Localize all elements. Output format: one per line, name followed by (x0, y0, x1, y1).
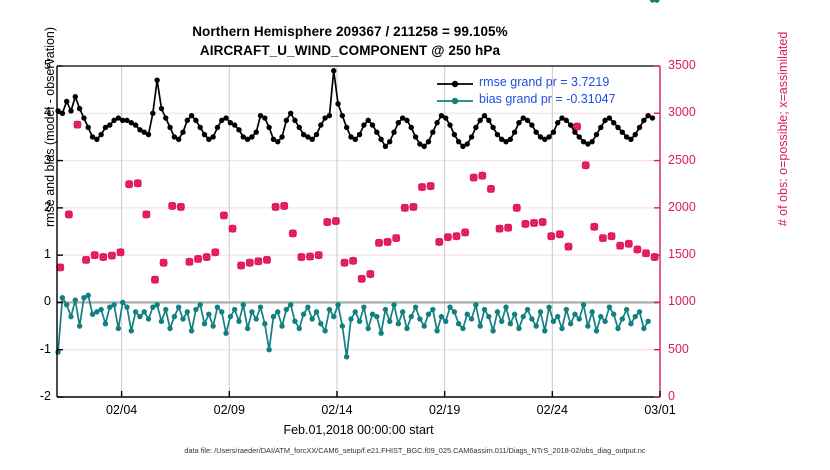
series-point-rmse (340, 113, 345, 118)
series-point-bias (452, 309, 457, 314)
series-point-bias (404, 326, 409, 331)
series-point-bias (387, 319, 392, 324)
series-point-rmse (391, 130, 396, 135)
series-point-bias (129, 328, 134, 333)
series-point-rmse (154, 77, 159, 82)
series-point-bias (490, 328, 495, 333)
series-point-rmse (215, 125, 220, 130)
y-tick-left-4: 4 (11, 105, 51, 119)
chart-title-line-2: AIRCRAFT_U_WIND_COMPONENT @ 250 hPa (0, 41, 700, 60)
y-tick-right-2000: 2000 (668, 200, 714, 214)
series-point-bias (73, 297, 78, 302)
series-point-bias (331, 314, 336, 319)
plot-figure: Northern Hemisphere 209367 / 211258 = 99… (0, 0, 830, 470)
series-point-rmse (279, 134, 284, 139)
series-point-bias (426, 312, 431, 317)
series-point-bias (86, 293, 91, 298)
series-point-bias (598, 314, 603, 319)
series-point-rmse (365, 118, 370, 123)
legend-label-1: bias grand pr = -0.31047 (479, 92, 616, 106)
series-point-bias (68, 314, 73, 319)
series-point-bias (620, 316, 625, 321)
series-point-bias (163, 307, 168, 312)
series-point-bias (516, 326, 521, 331)
series-point-rmse (452, 132, 457, 137)
series-point-rmse (284, 118, 289, 123)
series-point-bias (469, 316, 474, 321)
series-point-rmse (133, 122, 138, 127)
series-point-rmse (490, 125, 495, 130)
series-point-bias (262, 321, 267, 326)
y-tick-right-0: 0 (668, 389, 714, 403)
chart-title: Northern Hemisphere 209367 / 211258 = 99… (0, 22, 700, 60)
series-point-bias (559, 326, 564, 331)
series-point-bias (60, 295, 65, 300)
series-point-bias (529, 316, 534, 321)
series-point-bias (482, 307, 487, 312)
series-point-rmse (404, 118, 409, 123)
series-point-rmse (98, 132, 103, 137)
series-point-rmse (641, 118, 646, 123)
x-tick-02/14: 02/14 (307, 403, 367, 417)
series-point-bias (361, 304, 366, 309)
series-point-bias (645, 319, 650, 324)
series-point-rmse (533, 130, 538, 135)
series-point-bias (335, 302, 340, 307)
series-point-bias (357, 319, 362, 324)
series-point-bias (439, 314, 444, 319)
series-point-rmse (198, 125, 203, 130)
y-tick-left-2: 2 (11, 200, 51, 214)
series-point-rmse (525, 118, 530, 123)
series-point-rmse (637, 125, 642, 130)
series-point-bias (98, 307, 103, 312)
series-point-bias (594, 328, 599, 333)
series-point-bias (607, 304, 612, 309)
series-point-bias (266, 347, 271, 352)
series-point-rmse (344, 125, 349, 130)
series-point-bias (254, 316, 259, 321)
series-point-rmse (456, 139, 461, 144)
series-point-bias (430, 307, 435, 312)
series-point-rmse (193, 118, 198, 123)
series-point-bias (421, 323, 426, 328)
series-point-rmse (180, 130, 185, 135)
series-point-bias (180, 316, 185, 321)
series-point-bias (577, 316, 582, 321)
series-point-rmse (167, 125, 172, 130)
series-point-bias (486, 314, 491, 319)
x-tick-02/19: 02/19 (415, 403, 475, 417)
series-point-rmse (327, 113, 332, 118)
series-point-rmse (607, 115, 612, 120)
series-point-bias (301, 312, 306, 317)
series-point-rmse (620, 130, 625, 135)
series-point-rmse (486, 118, 491, 123)
series-point-bias (103, 321, 108, 326)
series-point-bias (219, 309, 224, 314)
series-point-rmse (314, 132, 319, 137)
series-point-rmse (357, 132, 362, 137)
series-point-rmse (421, 144, 426, 149)
series-point-bias (499, 319, 504, 324)
series-point-rmse (370, 122, 375, 127)
series-point-rmse (469, 134, 474, 139)
series-point-bias (568, 321, 573, 326)
y-tick-right-500: 500 (668, 342, 714, 356)
series-point-bias (271, 314, 276, 319)
series-point-rmse (508, 137, 513, 142)
series-point-rmse (430, 130, 435, 135)
series-point-rmse (564, 118, 569, 123)
obs-marker-group (57, 121, 658, 282)
series-point-rmse (288, 111, 293, 116)
series-point-bias (637, 309, 642, 314)
series-point-bias (551, 319, 556, 324)
series-point-rmse (551, 130, 556, 135)
series-point-rmse (292, 118, 297, 123)
series-point-bias (167, 326, 172, 331)
series-point-bias (521, 314, 526, 319)
series-point-bias (258, 304, 263, 309)
series-point-bias (564, 307, 569, 312)
series-point-rmse (150, 111, 155, 116)
y-tick-left-3: 3 (11, 153, 51, 167)
series-point-bias (309, 316, 314, 321)
series-point-rmse (189, 113, 194, 118)
series-point-rmse (331, 68, 336, 73)
series-point-bias (111, 302, 116, 307)
y-tick-right-3000: 3000 (668, 105, 714, 119)
series-point-bias (348, 316, 353, 321)
series-point-rmse (236, 127, 241, 132)
series-point-bias (176, 304, 181, 309)
series-point-rmse (529, 122, 534, 127)
y-tick-left-1: 1 (11, 247, 51, 261)
series-point-bias (533, 323, 538, 328)
series-point-rmse (568, 122, 573, 127)
x-tick-02/24: 02/24 (522, 403, 582, 417)
series-point-rmse (94, 137, 99, 142)
y-tick-left-0: 0 (11, 294, 51, 308)
series-point-bias (447, 304, 452, 309)
series-point-rmse (176, 137, 181, 142)
series-point-bias (185, 309, 190, 314)
series-point-bias (64, 302, 69, 307)
series-point-bias (279, 323, 284, 328)
y-tick-left--1: -1 (11, 342, 51, 356)
series-point-rmse (159, 106, 164, 111)
series-point-rmse (81, 115, 86, 120)
series-point-rmse (146, 132, 151, 137)
series-point-bias (202, 321, 207, 326)
series-point-bias (542, 328, 547, 333)
series-point-rmse (546, 134, 551, 139)
series-point-rmse (443, 115, 448, 120)
series-point-rmse (266, 125, 271, 130)
series-point-rmse (353, 137, 358, 142)
series-point-bias (275, 309, 280, 314)
series-point-rmse (512, 130, 517, 135)
series-point-bias (477, 323, 482, 328)
series-point-rmse (477, 118, 482, 123)
series-point-rmse (387, 139, 392, 144)
series-point-rmse (107, 122, 112, 127)
series-point-rmse (262, 115, 267, 120)
series-point-bias (585, 323, 590, 328)
series-point-rmse (577, 134, 582, 139)
series-point-rmse (594, 132, 599, 137)
series-point-bias (443, 319, 448, 324)
series-point-bias (374, 314, 379, 319)
series-point-bias (654, 0, 659, 3)
series-point-rmse (64, 99, 69, 104)
series-point-rmse (163, 115, 168, 120)
legend-sample-marker-1 (452, 98, 458, 104)
series-point-bias (142, 309, 147, 314)
series-point-bias (124, 304, 129, 309)
series-point-bias (465, 312, 470, 317)
y-tick-right-2500: 2500 (668, 153, 714, 167)
series-point-rmse (77, 106, 82, 111)
series-point-rmse (185, 118, 190, 123)
series-point-rmse (589, 139, 594, 144)
series-point-bias (314, 309, 319, 314)
series-point-bias (77, 323, 82, 328)
x-tick-03/01: 03/01 (630, 403, 690, 417)
series-point-rmse (633, 132, 638, 137)
series-point-bias (641, 326, 646, 331)
series-point-bias (413, 304, 418, 309)
series-point-bias (305, 304, 310, 309)
series-point-bias (460, 326, 465, 331)
series-point-rmse (628, 137, 633, 142)
series-point-bias (589, 309, 594, 314)
series-point-bias (292, 319, 297, 324)
series-point-bias (120, 300, 125, 305)
series-point-bias (602, 319, 607, 324)
series-point-bias (378, 330, 383, 335)
series-point-bias (206, 312, 211, 317)
series-point-bias (215, 304, 220, 309)
x-axis-label: Feb.01,2018 00:00:00 start (57, 423, 660, 437)
series-point-bias (508, 321, 513, 326)
series-point-rmse (68, 108, 73, 113)
series-point-bias (365, 326, 370, 331)
series-line-bias (58, 295, 648, 356)
legend-label-0: rmse grand pr = 3.7219 (479, 75, 609, 89)
series-point-bias (538, 309, 543, 314)
series-point-rmse (254, 130, 259, 135)
series-point-rmse (335, 101, 340, 106)
series-point-rmse (482, 113, 487, 118)
y-axis-label-right: # of obs: o=possible; x=assimilated (776, 0, 790, 309)
series-point-rmse (426, 139, 431, 144)
series-point-bias (546, 304, 551, 309)
series-point-bias (391, 302, 396, 307)
series-point-rmse (297, 125, 302, 130)
series-point-bias (434, 328, 439, 333)
series-point-bias (154, 302, 159, 307)
series-point-bias (572, 312, 577, 317)
series-point-bias (417, 316, 422, 321)
series-point-rmse (318, 122, 323, 127)
series-point-rmse (210, 134, 215, 139)
series-point-rmse (473, 125, 478, 130)
y-tick-left--2: -2 (11, 389, 51, 403)
legend-sample-marker-0 (452, 81, 458, 87)
series-point-rmse (516, 120, 521, 125)
series-point-bias (456, 321, 461, 326)
series-point-bias (322, 328, 327, 333)
series-point-rmse (434, 120, 439, 125)
series-point-rmse (465, 141, 470, 146)
series-point-rmse (495, 132, 500, 137)
series-point-bias (400, 309, 405, 314)
series-point-rmse (378, 137, 383, 142)
series-point-bias (245, 326, 250, 331)
series-point-rmse (572, 130, 577, 135)
series-point-bias (353, 309, 358, 314)
series-point-bias (228, 314, 233, 319)
series-point-bias (193, 307, 198, 312)
series-point-rmse (615, 125, 620, 130)
series-point-rmse (275, 139, 280, 144)
series-point-bias (284, 307, 289, 312)
series-point-bias (495, 309, 500, 314)
series-point-rmse (383, 144, 388, 149)
series-point-rmse (86, 125, 91, 130)
series-point-rmse (650, 115, 655, 120)
series-point-bias (318, 321, 323, 326)
series-point-rmse (555, 120, 560, 125)
series-point-bias (383, 307, 388, 312)
series-point-bias (189, 328, 194, 333)
series-point-bias (133, 309, 138, 314)
series-point-bias (210, 323, 215, 328)
series-point-bias (512, 312, 517, 317)
series-point-bias (615, 326, 620, 331)
series-point-bias (581, 302, 586, 307)
series-point-bias (297, 326, 302, 331)
series-point-rmse (223, 115, 228, 120)
series-point-rmse (249, 134, 254, 139)
series-point-bias (198, 302, 203, 307)
series-point-rmse (598, 125, 603, 130)
x-tick-02/04: 02/04 (92, 403, 152, 417)
series-point-bias (628, 321, 633, 326)
series-point-rmse (413, 134, 418, 139)
y-tick-left-5: 5 (11, 58, 51, 72)
series-point-bias (611, 312, 616, 317)
series-point-bias (344, 354, 349, 359)
series-point-bias (172, 314, 177, 319)
chart-title-line-1: Northern Hemisphere 209367 / 211258 = 99… (0, 22, 700, 41)
series-point-bias (241, 302, 246, 307)
series-point-rmse (447, 122, 452, 127)
series-point-bias (223, 330, 228, 335)
series-point-rmse (374, 130, 379, 135)
series-point-bias (624, 307, 629, 312)
series-point-bias (525, 307, 530, 312)
series-point-rmse (309, 137, 314, 142)
series-point-bias (146, 316, 151, 321)
series-point-rmse (409, 125, 414, 130)
series-point-bias (633, 314, 638, 319)
data-file-note: data file: /Users/raeder/DAI/ATM_forcXX/… (0, 446, 830, 455)
series-point-bias (116, 326, 121, 331)
series-point-bias (159, 319, 164, 324)
series-point-rmse (232, 122, 237, 127)
series-point-rmse (73, 94, 78, 99)
series-point-rmse (202, 132, 207, 137)
x-tick-02/09: 02/09 (199, 403, 259, 417)
series-point-bias (288, 302, 293, 307)
series-point-rmse (361, 122, 366, 127)
series-point-bias (503, 304, 508, 309)
series-point-bias (473, 302, 478, 307)
y-tick-right-3500: 3500 (668, 58, 714, 72)
series-point-bias (396, 321, 401, 326)
series-point-bias (249, 309, 254, 314)
series-point-bias (236, 319, 241, 324)
y-tick-right-1500: 1500 (668, 247, 714, 261)
series-point-bias (555, 314, 560, 319)
series-point-bias (327, 307, 332, 312)
series-point-bias (340, 323, 345, 328)
series-point-rmse (611, 120, 616, 125)
series-point-bias (232, 307, 237, 312)
series-point-bias (409, 314, 414, 319)
series-point-rmse (396, 120, 401, 125)
series-point-bias (137, 314, 142, 319)
y-tick-right-1000: 1000 (668, 294, 714, 308)
